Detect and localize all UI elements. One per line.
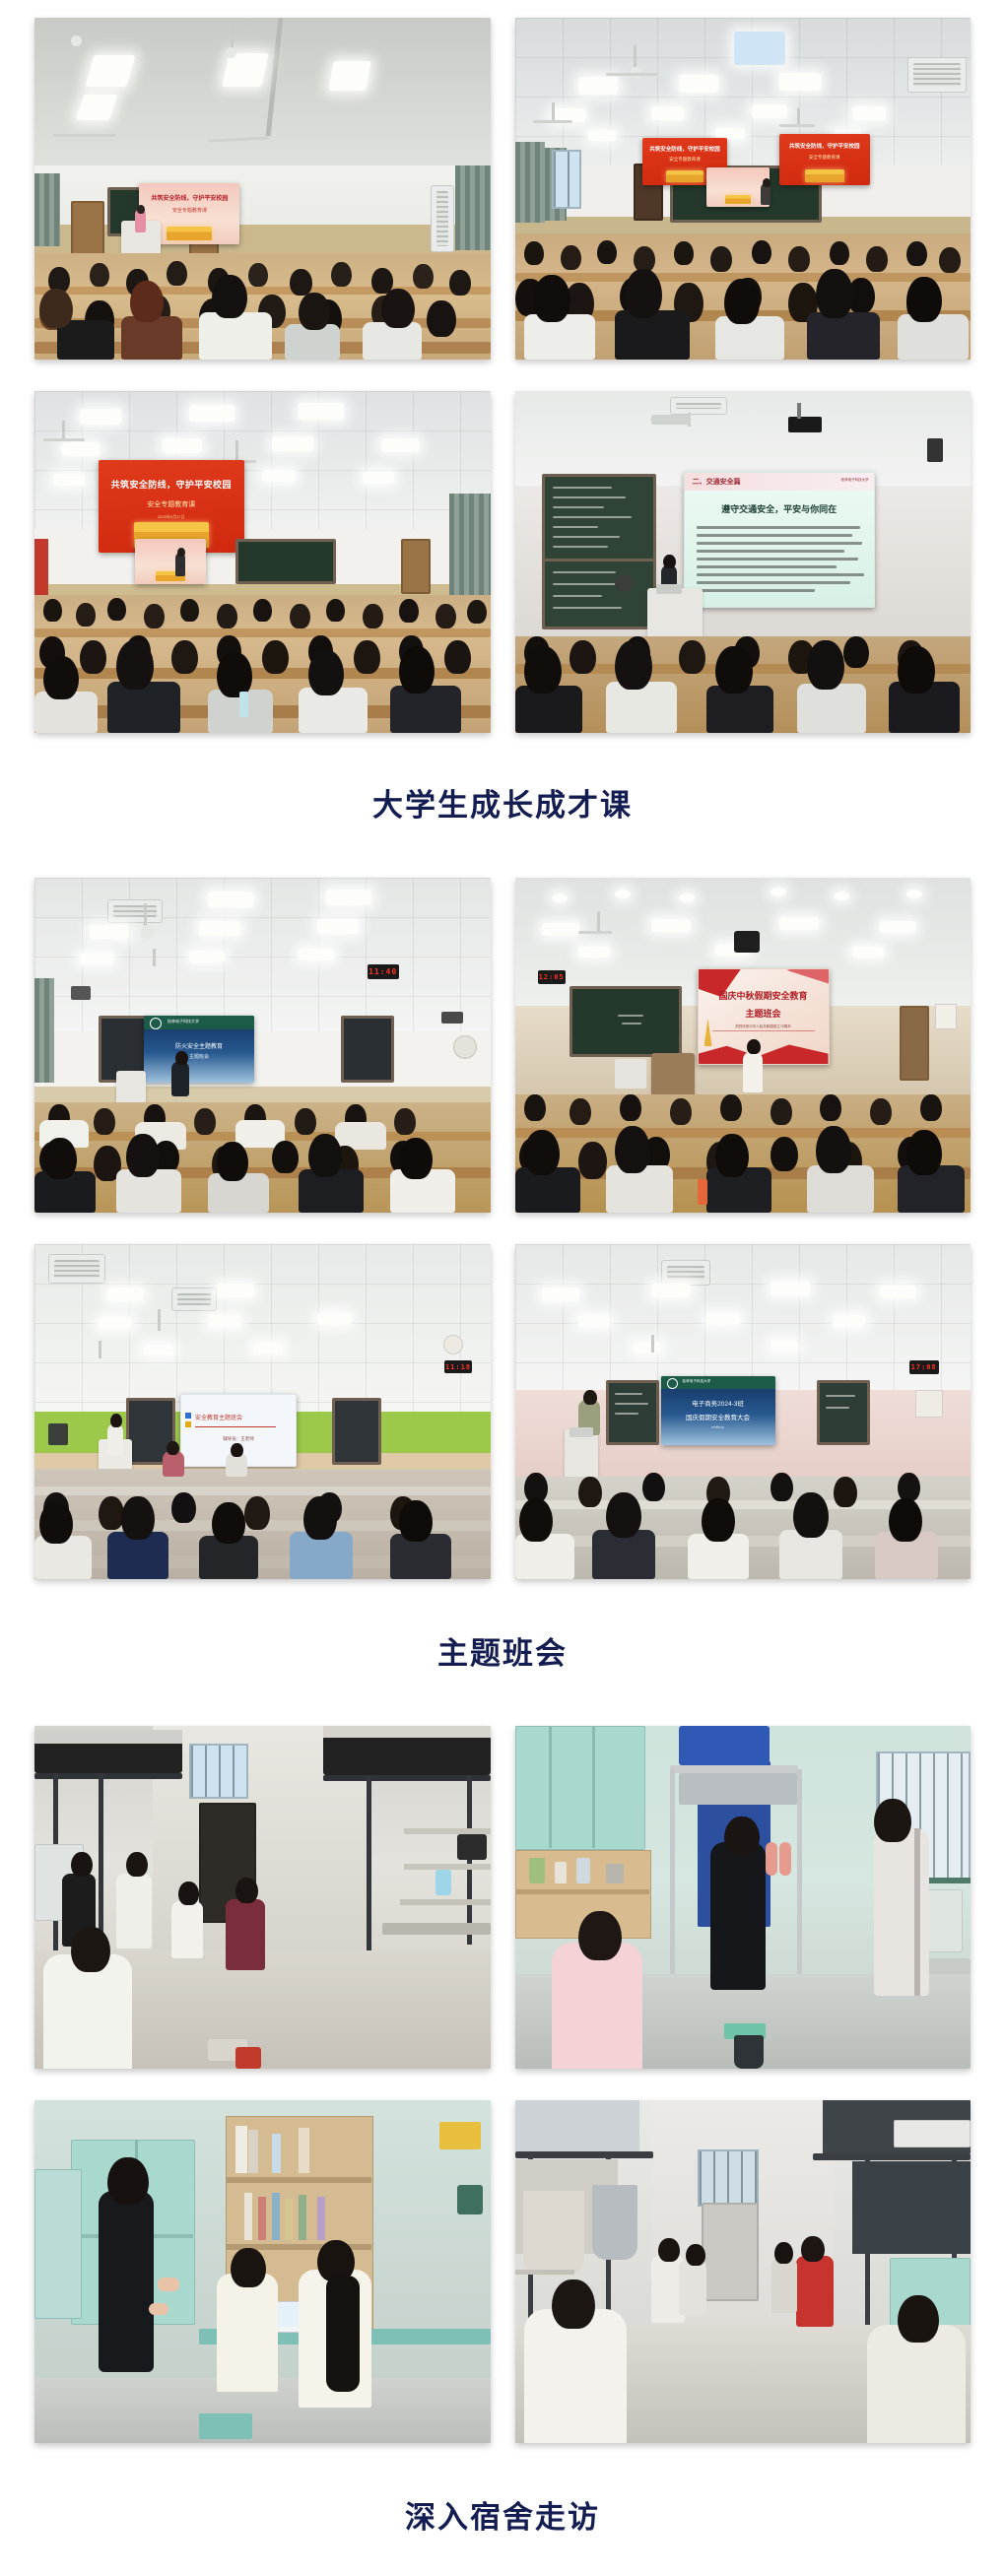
photo-gc-3[interactable]: 共筑安全防线，守护平安校园 安全专题教育课 2025年9月27日 [34, 391, 491, 733]
blackboard-gc-4 [542, 474, 656, 562]
caption-growth-course: 大学生成长成才课 [0, 780, 1005, 825]
slide-note-tcm-2: 热烈庆祝中华人民共和国成立75周年 [699, 1024, 829, 1029]
section-dorm-visits: 深入宿舍走访 [0, 1726, 1005, 2537]
photo-gc-2[interactable]: 共筑安全防线，守护平安校园 安全专题教育课 共筑安全防线，守护平安校园 安全专题… [515, 18, 971, 360]
photo-grid-growth-course: 共筑安全防线，守护平安校园 安全专题教育课 [0, 18, 1005, 733]
slide-subtitle-gc-2-left: 安全专题教育课 [642, 157, 727, 163]
slide-title-gc-4: 遵守交通安全，平安与你同在 [685, 502, 874, 515]
photo-gc-4[interactable]: 二、交通安全篇 桂林电子科技大学 遵守交通安全，平安与你同在 [515, 391, 971, 733]
slide-title-tcm-4: 电子商务2024-3班 [661, 1398, 775, 1408]
photo-dv-4[interactable] [515, 2100, 971, 2443]
wall-clock-tcm-1: 11:40 [368, 964, 399, 979]
wall-clock-gc-4 [788, 417, 822, 432]
slide-subtitle-gc-3: 安全专题教育课 [99, 499, 244, 509]
photo-grid-theme-class-meeting: 11:40 桂林电子科技大学 防火安全主题教育 主题班会 [0, 878, 1005, 1579]
slide-note-tcm-4: whitlsxp [661, 1425, 775, 1429]
slide-org-tcm-1: 桂林电子科技大学 [167, 1019, 199, 1024]
slide-title-gc-2-left: 共筑安全防线，守护平安校园 [642, 145, 727, 153]
wall-clock-tcm-4: 17:08 [909, 1360, 939, 1374]
wall-clock-tcm-3: 11:18 [444, 1360, 472, 1373]
photo-collage-page: 共筑安全防线，守护平安校园 安全专题教育课 [0, 0, 1005, 2576]
slide-title-gc-1: 共筑安全防线，守护平安校园 [139, 193, 239, 202]
photo-dv-1[interactable] [34, 1726, 491, 2069]
slide-title-gc-2-right: 共筑安全防线，守护平安校园 [779, 142, 870, 150]
section-growth-course: 共筑安全防线，守护平安校园 安全专题教育课 [0, 0, 1005, 825]
slide-sub-tcm-2: 主题班会 [699, 1007, 829, 1020]
section-theme-class-meeting: 11:40 桂林电子科技大学 防火安全主题教育 主题班会 [0, 878, 1005, 1673]
slide-org-tcm-4: 桂林电子科技大学 [683, 1379, 711, 1384]
photo-tcm-4[interactable]: 17:08 桂林电子科技大学 电子商 [515, 1244, 971, 1579]
slide-title-tcm-1: 防火安全主题教育 [144, 1041, 254, 1050]
slide-gc-4: 二、交通安全篇 桂林电子科技大学 遵守交通安全，平安与你同在 [684, 472, 875, 608]
slide-sub-tcm-1: 主题班会 [144, 1053, 254, 1060]
slide-title-tcm-2: 国庆中秋假期安全教育 [699, 989, 829, 1002]
photo-grid-dorm-visits [0, 1726, 1005, 2443]
screen-right-gc-2: 共筑安全防线，守护平安校园 安全专题教育课 [779, 134, 870, 185]
photo-tcm-3[interactable]: 11:18 安全教育主题班会 辅导员：王老师 [34, 1244, 491, 1579]
slide-tcm-2: 国庆中秋假期安全教育 主题班会 热烈庆祝中华人民共和国成立75周年 [698, 968, 830, 1065]
slide-org-gc-4: 桂林电子科技大学 [841, 478, 869, 483]
slide-title-tcm-3: 安全教育主题班会 [195, 1413, 242, 1421]
wall-clock-tcm-2: 12:05 [538, 970, 566, 984]
photo-tcm-2[interactable]: 12:05 国庆中秋假期安全教育 主题班会 热烈庆祝中华人民共和国成立75周年 [515, 878, 971, 1213]
photo-gc-1[interactable]: 共筑安全防线，守护平安校园 安全专题教育课 [34, 18, 491, 360]
slide-subtitle-gc-2-right: 安全专题教育课 [779, 155, 870, 161]
slide-title-gc-3: 共筑安全防线，守护平安校园 [99, 478, 244, 491]
slide-tcm-4: 桂林电子科技大学 电子商务2024-3班 国庆假期安全教育大会 whitlsxp [661, 1376, 775, 1445]
photo-dv-3[interactable] [34, 2100, 491, 2443]
slide-tcm-1: 桂林电子科技大学 防火安全主题教育 主题班会 [144, 1016, 254, 1083]
slide-date-gc-3: 2025年9月27日 [99, 514, 244, 520]
slide-sub-tcm-3: 辅导员：王老师 [181, 1436, 296, 1442]
slide-subtitle-gc-1: 安全专题教育课 [139, 207, 239, 214]
caption-dorm-visits: 深入宿舍走访 [0, 2492, 1005, 2537]
slide-header-gc-4: 二、交通安全篇 [693, 477, 741, 487]
slide-sub-tcm-4: 国庆假期安全教育大会 [661, 1412, 775, 1421]
caption-theme-class-meeting: 主题班会 [0, 1628, 1005, 1673]
photo-dv-2[interactable] [515, 1726, 971, 2069]
photo-tcm-1[interactable]: 11:40 桂林电子科技大学 防火安全主题教育 主题班会 [34, 878, 491, 1213]
